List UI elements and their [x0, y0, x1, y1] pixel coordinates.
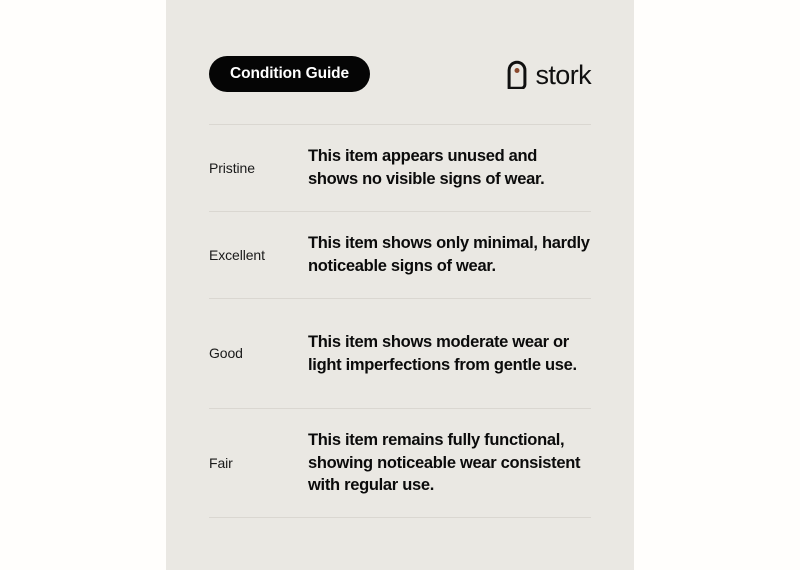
condition-guide-card: Condition Guide stork Pristine This it: [166, 0, 634, 570]
condition-description: This item shows only minimal, hardly not…: [308, 232, 591, 278]
condition-label: Good: [209, 344, 308, 362]
stork-arch-logo-icon: [506, 59, 528, 89]
condition-guide-badge: Condition Guide: [209, 56, 370, 92]
condition-label: Excellent: [209, 246, 308, 264]
table-row: Pristine This item appears unused and sh…: [209, 125, 591, 211]
card-content: Condition Guide stork Pristine This it: [209, 0, 591, 570]
table-divider-bottom: [209, 517, 591, 518]
condition-label: Fair: [209, 454, 308, 472]
condition-description: This item shows moderate wear or light i…: [308, 331, 591, 377]
condition-label: Pristine: [209, 159, 308, 177]
condition-description: This item appears unused and shows no vi…: [308, 145, 591, 191]
page-root: Condition Guide stork Pristine This it: [0, 0, 800, 570]
condition-table: Pristine This item appears unused and sh…: [209, 124, 591, 518]
table-row: Fair This item remains fully functional,…: [209, 409, 591, 517]
table-row: Good This item shows moderate wear or li…: [209, 299, 591, 408]
condition-description: This item remains fully functional, show…: [308, 429, 591, 497]
brand-lockup: stork: [506, 54, 591, 94]
table-row: Excellent This item shows only minimal, …: [209, 212, 591, 298]
brand-wordmark: stork: [535, 62, 591, 89]
card-header: Condition Guide stork: [209, 56, 591, 92]
